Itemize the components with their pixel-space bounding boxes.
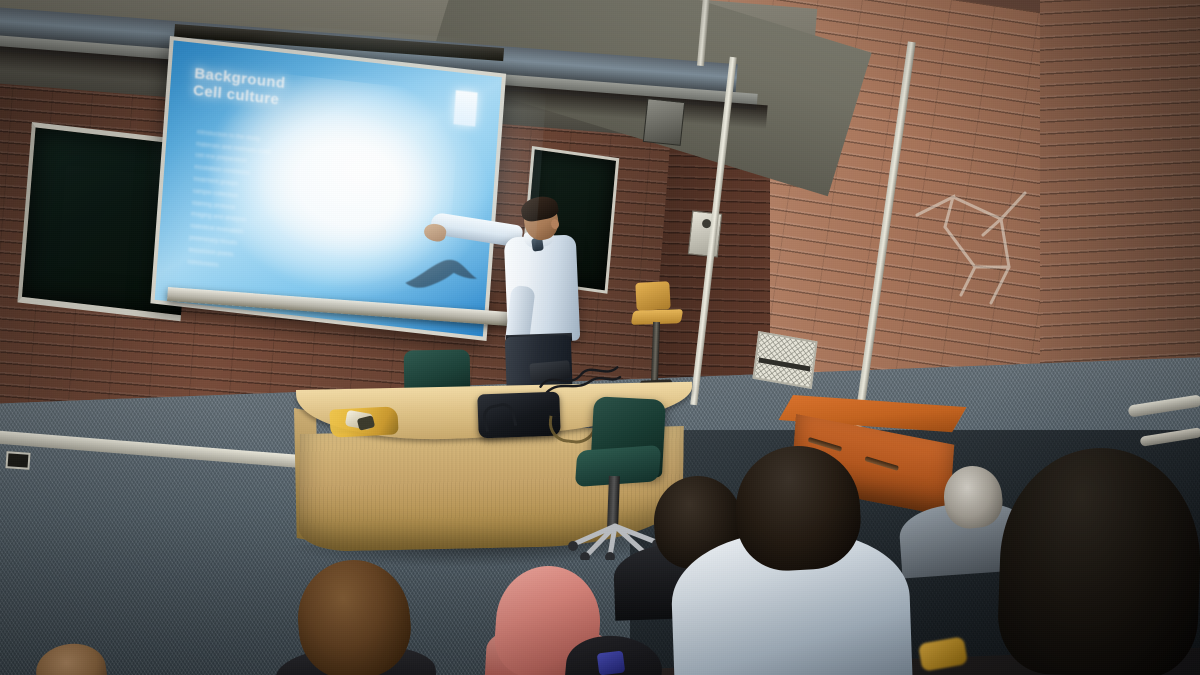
lecture-hall-photo: Background Cell culture introduction to … [0,0,1200,675]
cabinet-handle[interactable] [865,456,899,471]
chalk-marking [905,175,1085,325]
slide-title: Background Cell culture [192,66,398,122]
wall-vent-grille [752,331,817,389]
blue-object [597,650,625,675]
power-outlet [5,451,30,470]
wall-speaker [643,98,685,146]
slide-bullet-list: introduction to the study materials and … [187,129,368,289]
bird-icon [401,248,482,303]
stool-backrest [635,281,670,311]
slide-logo [453,90,477,126]
